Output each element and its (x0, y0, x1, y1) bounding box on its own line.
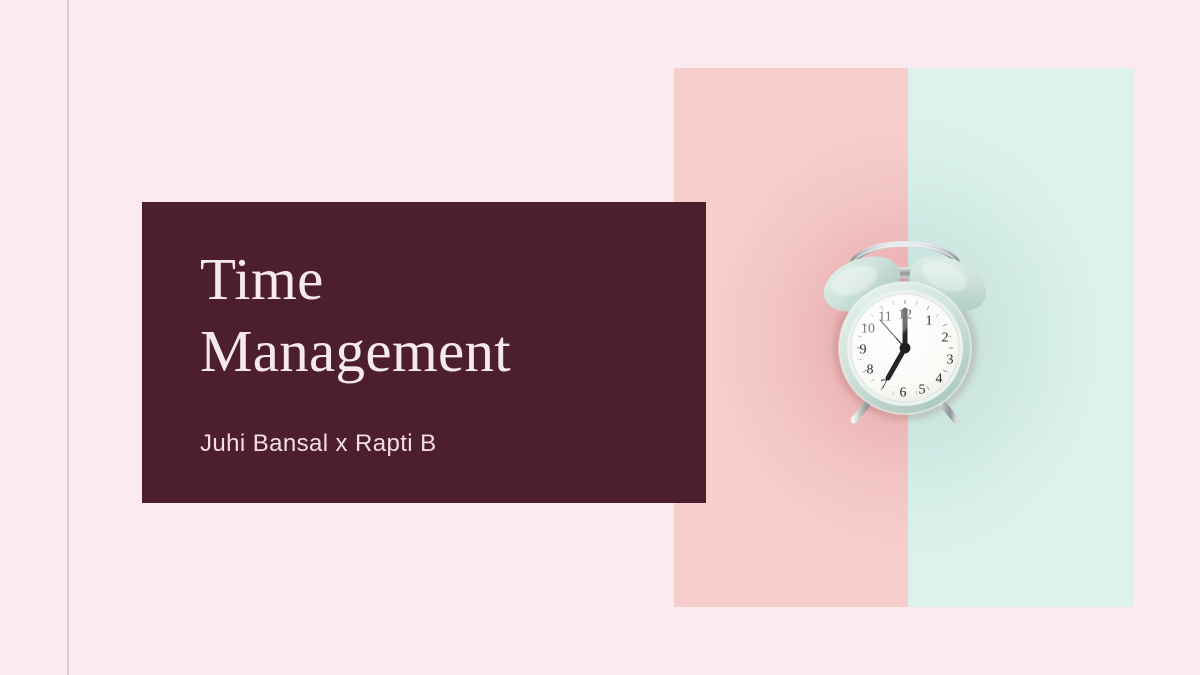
svg-text:3: 3 (947, 353, 954, 368)
svg-text:4: 4 (936, 372, 943, 387)
svg-text:8: 8 (867, 363, 874, 378)
presentation-slide: 12 1 2 3 4 5 6 7 8 9 10 11 (0, 0, 1200, 675)
alarm-clock-icon: 12 1 2 3 4 5 6 7 8 9 10 11 (802, 220, 1008, 425)
svg-text:1: 1 (926, 314, 933, 329)
title-text-group: Time Management Juhi Bansal x Rapti B (200, 244, 670, 459)
svg-text:6: 6 (900, 386, 907, 401)
title-card: Time Management Juhi Bansal x Rapti B (142, 202, 706, 503)
page-title: Time Management (200, 244, 670, 388)
hero-photo: 12 1 2 3 4 5 6 7 8 9 10 11 (674, 68, 1134, 607)
slide-subtitle: Juhi Bansal x Rapti B (200, 428, 670, 459)
left-accent-rule (67, 0, 69, 675)
svg-text:5: 5 (919, 383, 926, 398)
svg-text:9: 9 (860, 343, 867, 358)
svg-text:2: 2 (942, 331, 949, 346)
